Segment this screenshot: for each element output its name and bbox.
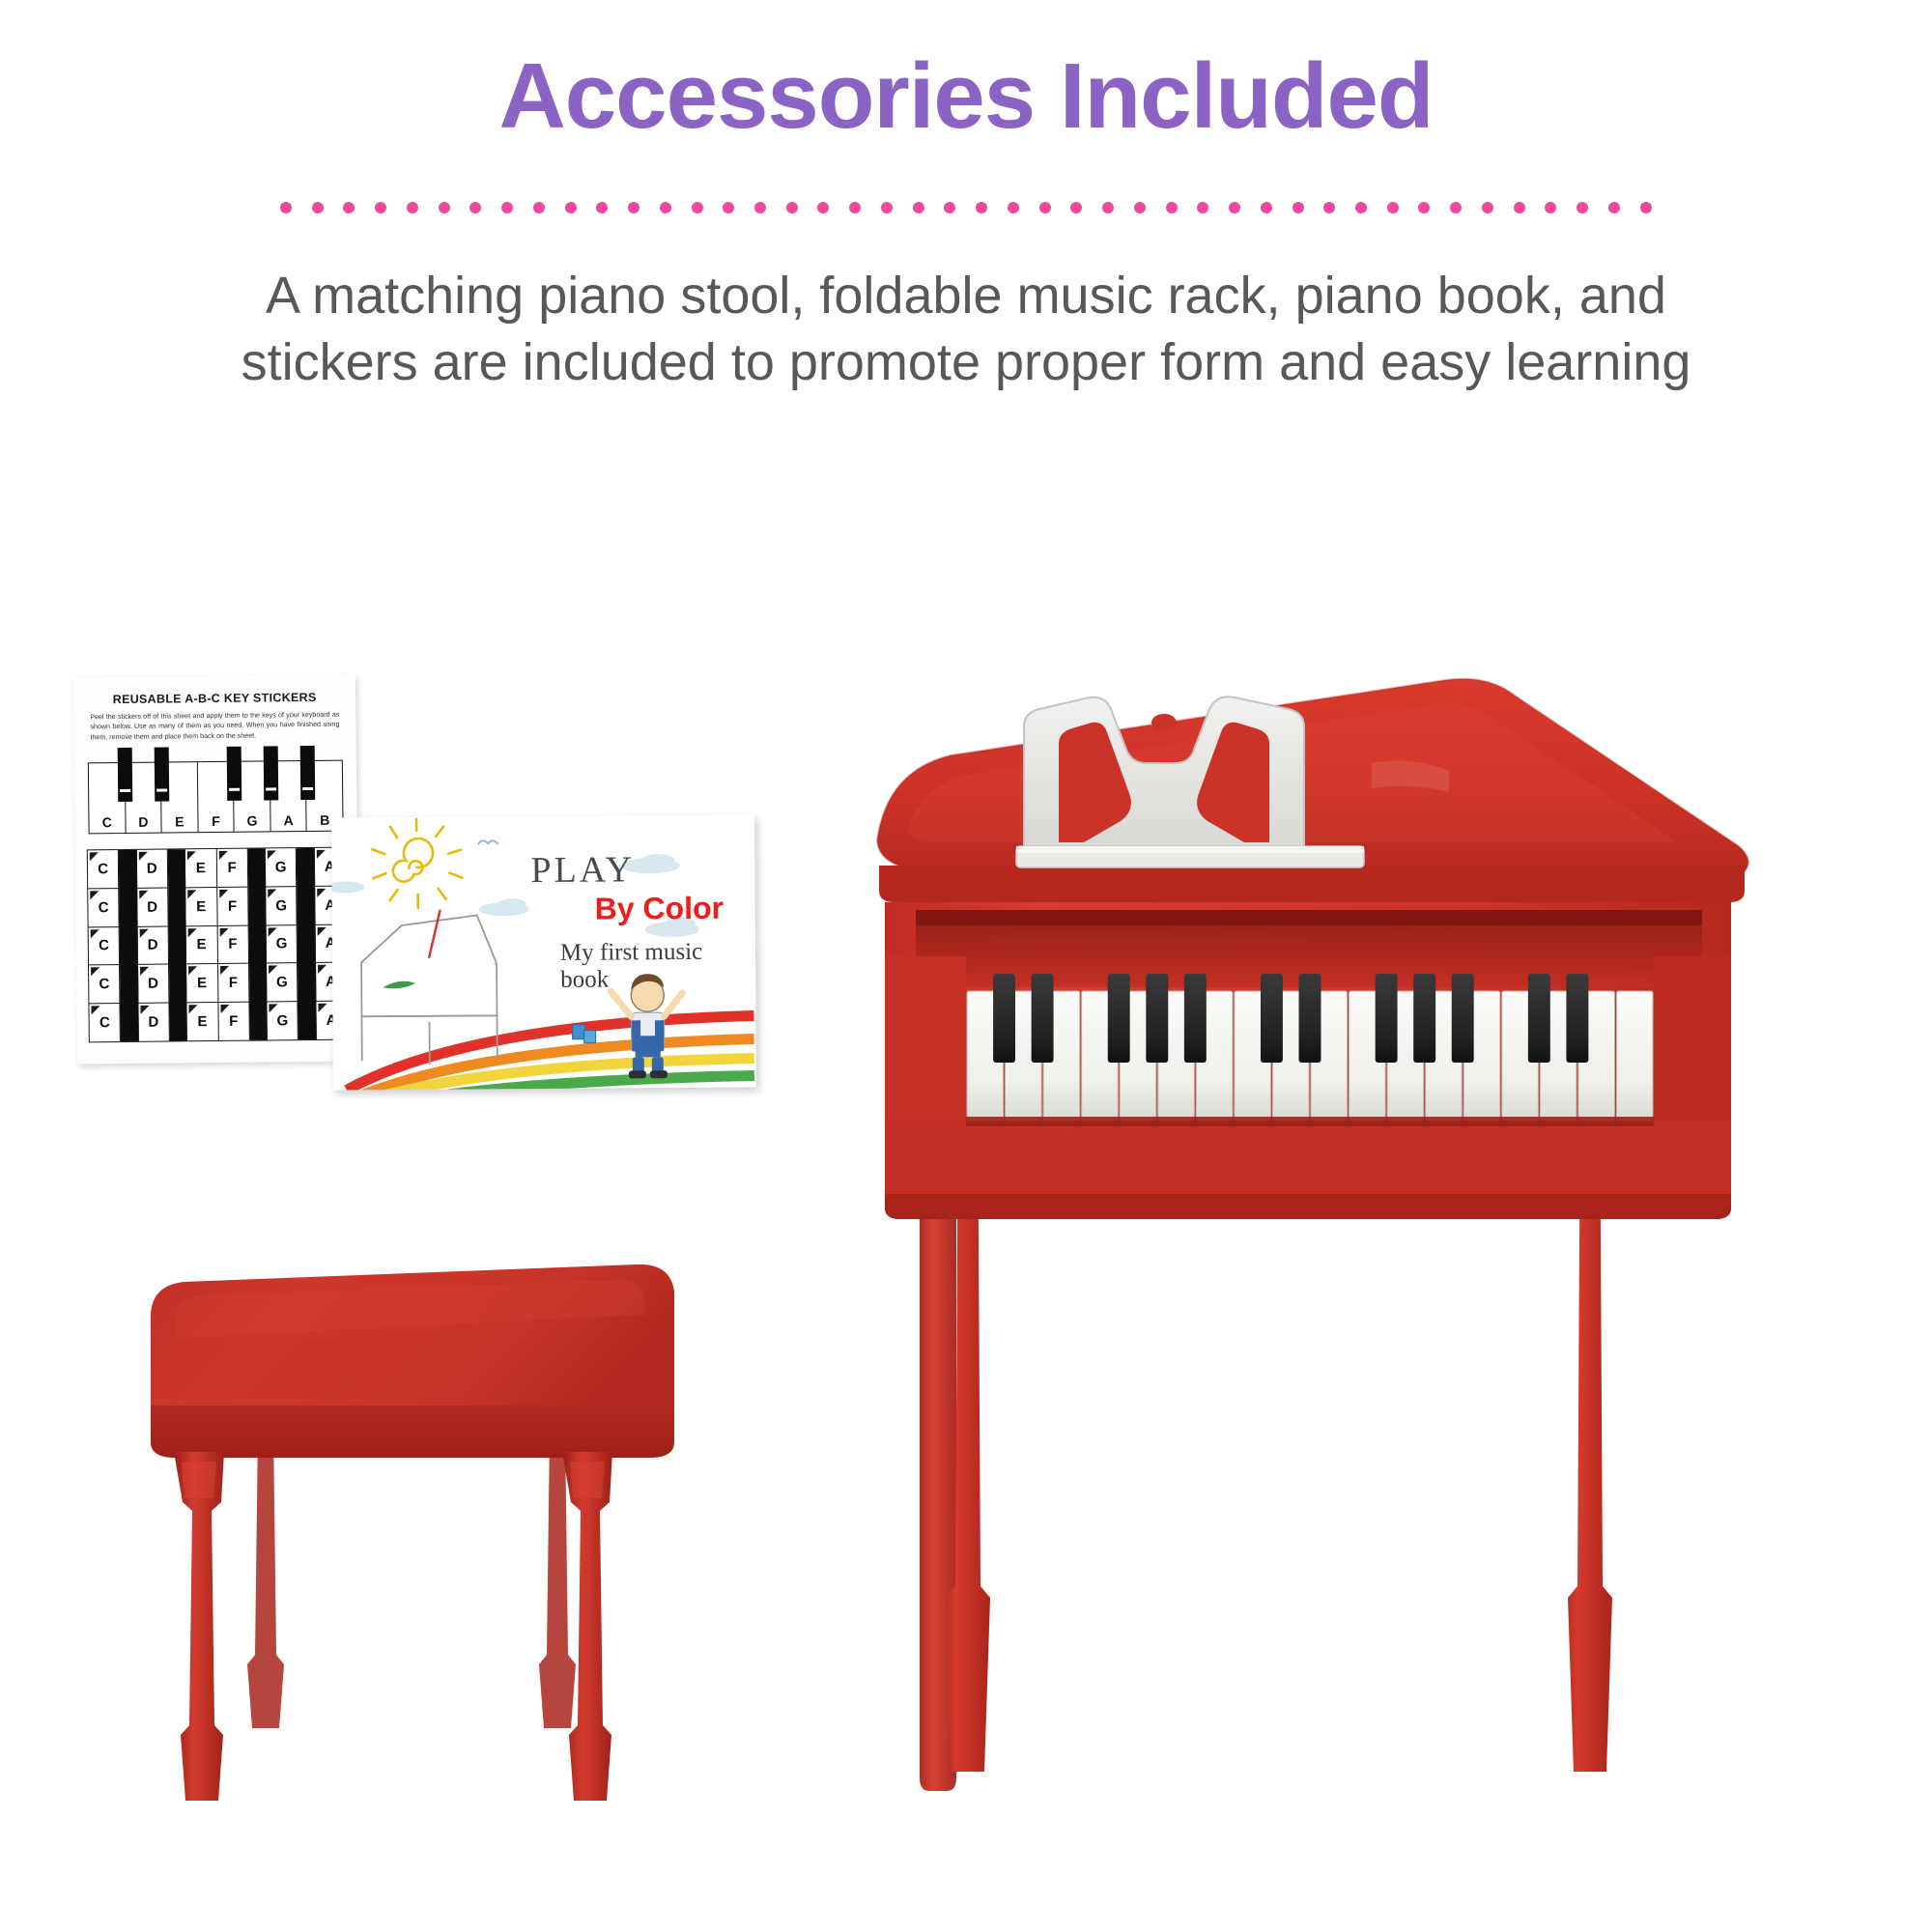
divider-dot — [881, 202, 893, 213]
sticker-corner-mark — [188, 967, 197, 976]
sticker-corner-mark — [139, 928, 148, 937]
music-book-cover: PLAY By Color My first music book — [331, 814, 756, 1090]
sticker-corner-mark — [91, 1006, 99, 1014]
sticker-cell: F — [218, 964, 249, 1003]
divider-dot — [375, 202, 386, 213]
stool-front-legs — [174, 1452, 612, 1801]
sticker-corner-mark — [90, 852, 99, 861]
diagram-black-key — [155, 748, 170, 802]
diagram-black-key — [118, 748, 133, 802]
divider-dot — [1039, 202, 1051, 213]
divider-dot — [1577, 202, 1588, 213]
divider-dot — [628, 202, 639, 213]
page-subtitle: A matching piano stool, foldable music r… — [174, 263, 1758, 396]
piano-black-key[interactable] — [993, 974, 1015, 1063]
piano-black-key[interactable] — [1108, 974, 1130, 1063]
divider-dot — [1197, 202, 1208, 213]
sticker-cell: G — [268, 1002, 298, 1039]
divider-dot — [343, 202, 355, 213]
sticker-separator-column — [119, 850, 138, 1041]
header-section: Accessories Included A matching piano st… — [0, 0, 1932, 502]
divider-dot — [565, 202, 577, 213]
sticker-cell: F — [217, 887, 248, 925]
rainbow-illustration — [336, 1015, 754, 1090]
stool-seat-edge — [151, 1406, 674, 1458]
sticker-corner-mark — [140, 1006, 149, 1014]
diagram-key-label: A — [270, 812, 306, 828]
sticker-corner-mark — [268, 889, 276, 897]
sticker-cell: F — [218, 1003, 249, 1040]
divider-dot — [439, 202, 450, 213]
sticker-corner-mark — [139, 891, 148, 899]
divider-dot — [1229, 202, 1240, 213]
divider-dot — [1070, 202, 1082, 213]
sticker-corner-mark — [219, 890, 228, 898]
stool-graphic — [133, 1261, 761, 1806]
piano-white-key[interactable] — [1616, 991, 1653, 1121]
divider-dot — [944, 202, 955, 213]
sticker-cell: D — [138, 965, 169, 1004]
sticker-corner-mark — [318, 965, 327, 974]
sticker-corner-mark — [218, 851, 227, 860]
piano-black-key[interactable] — [1528, 974, 1550, 1063]
sticker-separator-column — [168, 849, 187, 1040]
divider-dot — [1608, 202, 1620, 213]
piano-black-key[interactable] — [1032, 974, 1054, 1063]
sticker-cell: E — [185, 888, 216, 926]
divider-dot — [660, 202, 671, 213]
sticker-corner-mark — [269, 927, 277, 936]
sticker-cell: F — [216, 849, 247, 888]
page-title: Accessories Included — [0, 48, 1932, 146]
divider-dot — [1355, 202, 1367, 213]
sticker-sheet-title: REUSABLE A-B-C KEY STICKERS — [73, 690, 355, 706]
sticker-corner-mark — [90, 891, 99, 899]
sticker-corner-mark — [91, 968, 99, 977]
divider-dot — [849, 202, 861, 213]
sticker-cell: E — [186, 926, 217, 965]
music-book-title-play: PLAY — [530, 848, 635, 892]
divider-dot — [1008, 202, 1019, 213]
sticker-corner-mark — [268, 850, 276, 859]
sticker-cell: G — [267, 925, 298, 964]
divider-dot — [692, 202, 703, 213]
divider-dot — [1418, 202, 1430, 213]
divider-dot — [786, 202, 798, 213]
sticker-cell: E — [185, 849, 216, 888]
diagram-black-key — [264, 746, 279, 800]
sticker-corner-mark — [269, 966, 277, 975]
divider-dot — [1545, 202, 1556, 213]
divider-dot — [1134, 202, 1146, 213]
sticker-corner-mark — [316, 850, 325, 859]
piano-stool — [133, 1261, 761, 1806]
sticker-corner-mark — [317, 889, 326, 897]
divider-dot — [1450, 202, 1462, 213]
sticker-cell: E — [187, 1003, 218, 1040]
divider-dot — [1640, 202, 1652, 213]
divider-dot — [913, 202, 924, 213]
sticker-corner-mark — [219, 927, 228, 936]
sticker-column: FFFFF — [216, 849, 249, 1040]
toy-grand-piano — [869, 667, 1835, 1855]
piano-black-key[interactable] — [1184, 974, 1207, 1063]
diagram-key-label: F — [198, 813, 234, 829]
divider-dot — [723, 202, 734, 213]
sticker-corner-mark — [317, 926, 326, 935]
sticker-cell: D — [136, 850, 167, 889]
divider-dot — [1387, 202, 1399, 213]
sun-icon — [372, 819, 463, 909]
sticker-column: EEEEE — [185, 849, 218, 1040]
bird-icon — [478, 840, 497, 843]
divider-dot — [1293, 202, 1304, 213]
sticker-cell: G — [266, 887, 297, 925]
sticker-column: CCCCC — [88, 850, 121, 1041]
sticker-column: DDDDD — [136, 850, 169, 1041]
divider-dot — [817, 202, 829, 213]
diagram-key-label: C — [89, 814, 125, 830]
divider-dot — [1514, 202, 1525, 213]
diagram-key-label: E — [162, 813, 198, 829]
dotted-divider — [280, 201, 1652, 214]
abc-key-sticker-sheet: REUSABLE A-B-C KEY STICKERS Peel the sti… — [73, 674, 359, 1064]
music-book-title-bycolor: By Color — [595, 891, 724, 927]
sticker-cell: D — [137, 888, 168, 926]
divider-dot — [407, 202, 418, 213]
piano-black-key[interactable] — [1261, 974, 1283, 1063]
divider-dot — [1323, 202, 1335, 213]
diagram-key-label: G — [235, 812, 270, 828]
piano-graphic — [869, 667, 1835, 1855]
diagram-black-key — [227, 747, 242, 801]
sticker-corner-mark — [188, 928, 197, 937]
sticker-corner-mark — [187, 851, 196, 860]
piano-black-key[interactable] — [1299, 974, 1321, 1063]
piano-black-key[interactable] — [1376, 974, 1398, 1063]
divider-dot — [501, 202, 513, 213]
sticker-sheet-instructions: Peel the stickers off of this sheet and … — [90, 710, 339, 743]
piano-black-key[interactable] — [1146, 974, 1168, 1063]
sticker-cell: C — [88, 889, 119, 927]
divider-dot — [1261, 202, 1272, 213]
sticker-cell: E — [186, 964, 217, 1003]
sticker-separator-column — [297, 848, 316, 1039]
sticker-corner-mark — [270, 1005, 278, 1013]
divider-dot — [533, 202, 545, 213]
divider-dot — [754, 202, 766, 213]
divider-dot — [976, 202, 987, 213]
piano-lid — [877, 679, 1748, 902]
divider-dot — [1482, 202, 1493, 213]
diagram-black-key — [299, 746, 315, 800]
sticker-cell: C — [88, 850, 119, 889]
sticker-corner-mark — [138, 852, 147, 861]
sticker-corner-mark — [220, 966, 229, 975]
sticker-corner-mark — [220, 1005, 229, 1013]
diagram-key-label: D — [126, 814, 161, 830]
sticker-cell: D — [137, 926, 168, 965]
sticker-corner-mark — [187, 890, 196, 898]
piano-black-key[interactable] — [1452, 974, 1474, 1063]
piano-black-key[interactable] — [1413, 974, 1435, 1063]
divider-dot — [312, 202, 324, 213]
sticker-grid: CCCCCDDDDDEEEEEFFFFFGGGGGAAAAA — [87, 847, 348, 1043]
divider-dot — [1166, 202, 1178, 213]
sticker-corner-mark — [189, 1005, 198, 1013]
divider-dot — [596, 202, 608, 213]
sticker-cell: D — [138, 1004, 169, 1041]
sticker-column: GGGGG — [266, 848, 298, 1039]
sticker-cell: F — [217, 925, 248, 964]
piano-black-key[interactable] — [1566, 974, 1588, 1063]
sticker-cell: G — [266, 848, 297, 887]
sticker-corner-mark — [318, 1004, 327, 1012]
sticker-corner-mark — [91, 929, 99, 938]
music-book-subtitle: My first music book — [560, 938, 755, 993]
keyboard-diagram: CDEFGAB — [88, 760, 344, 835]
sticker-cell: G — [267, 964, 298, 1003]
sticker-cell: C — [89, 965, 120, 1004]
divider-dot — [1102, 202, 1114, 213]
sticker-separator-column — [248, 848, 268, 1039]
sticker-cell: C — [89, 1004, 120, 1041]
divider-dot — [469, 202, 481, 213]
sticker-cell: C — [89, 927, 120, 966]
sticker-corner-mark — [140, 967, 149, 976]
divider-dot — [280, 202, 292, 213]
